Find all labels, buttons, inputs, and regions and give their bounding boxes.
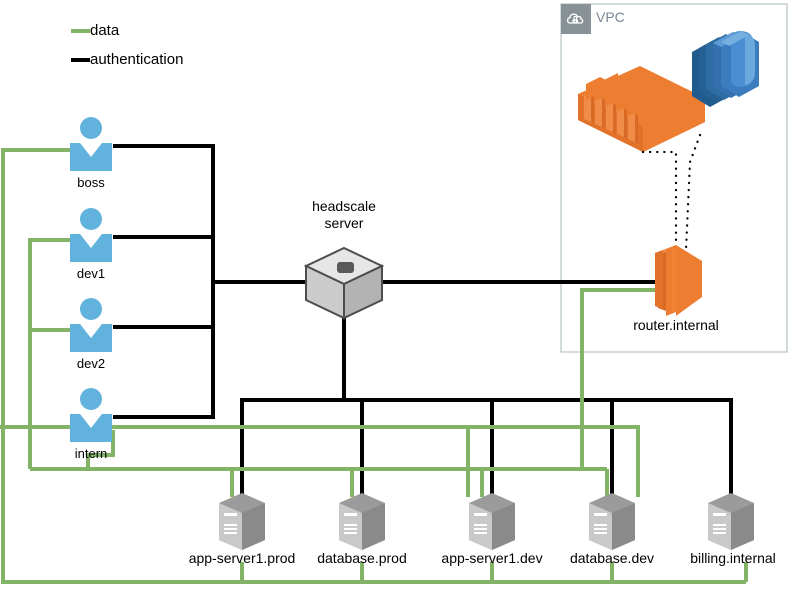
- cube-indicator: [337, 262, 354, 273]
- vpc-label: VPC: [596, 9, 625, 25]
- user-label-boss: boss: [41, 175, 141, 190]
- legend-label-authentication: authentication: [90, 51, 183, 68]
- user-icon-boss[interactable]: [70, 117, 112, 171]
- headscale-label-line1: headscale: [284, 198, 404, 215]
- server-icons-group: [219, 493, 754, 550]
- server-icon-database-dev[interactable]: [589, 493, 635, 550]
- user-label-intern: intern: [41, 446, 141, 461]
- server-icon-billing-internal[interactable]: [708, 493, 754, 550]
- server-icon-app-server1-dev[interactable]: [469, 493, 515, 550]
- user-label-dev2: dev2: [41, 356, 141, 371]
- user-icon-dev1[interactable]: [70, 208, 112, 262]
- user-icon-dev2[interactable]: [70, 298, 112, 352]
- server-icon-database-prod[interactable]: [339, 493, 385, 550]
- user-icon-intern[interactable]: [70, 388, 112, 442]
- user-label-dev1: dev1: [41, 266, 141, 281]
- server-icon-app-server1-prod[interactable]: [219, 493, 265, 550]
- vpc-icon-tile: [561, 4, 591, 34]
- server-label-database-dev: database.dev: [549, 551, 675, 566]
- router-label: router.internal: [606, 318, 746, 333]
- server-label-database-prod: database.prod: [297, 551, 427, 566]
- server-label-app-server1-prod: app-server1.prod: [172, 551, 312, 566]
- server-label-app-server1-dev: app-server1.dev: [424, 551, 560, 566]
- cube-icon[interactable]: [306, 248, 382, 318]
- legend-label-data: data: [90, 22, 119, 39]
- network-diagram-canvas: [0, 0, 792, 593]
- server-label-billing-internal: billing.internal: [665, 551, 792, 566]
- legend-strokes: [71, 31, 90, 60]
- headscale-label-line2: server: [284, 215, 404, 232]
